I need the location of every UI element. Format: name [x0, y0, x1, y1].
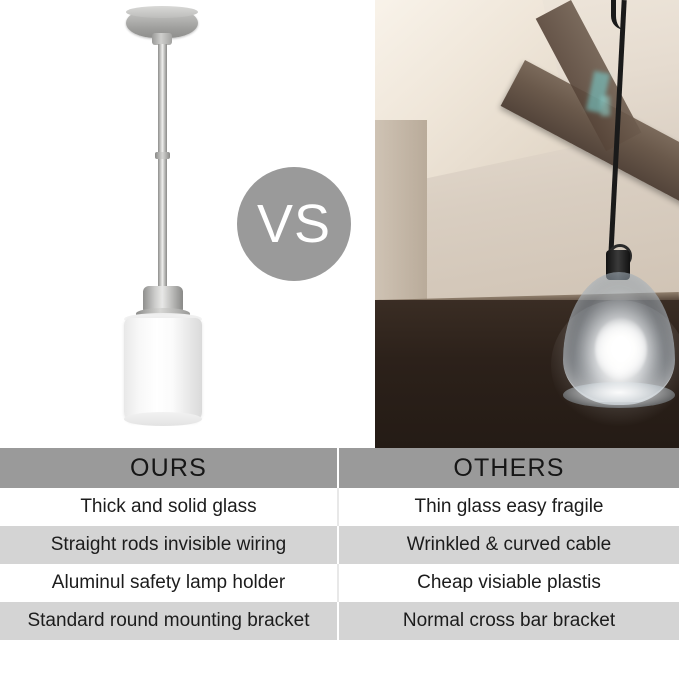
canopy-highlight — [126, 6, 198, 18]
table-row: Thick and solid glass Thin glass easy fr… — [0, 488, 679, 526]
side-wall — [375, 120, 427, 320]
glass-dome-rim — [563, 382, 675, 408]
white-glass-shade — [124, 318, 202, 422]
ours-feature: Standard round mounting bracket — [0, 602, 339, 640]
table-row: Straight rods invisible wiring Wrinkled … — [0, 526, 679, 564]
table-row: Aluminul safety lamp holder Cheap visiab… — [0, 564, 679, 602]
vs-badge: VS — [237, 167, 351, 281]
others-feature: Normal cross bar bracket — [339, 602, 679, 640]
header-ours: OURS — [0, 448, 339, 488]
ours-feature: Aluminul safety lamp holder — [0, 564, 339, 602]
others-feature: Wrinkled & curved cable — [339, 526, 679, 564]
comparison-table: OURS OTHERS Thick and solid glass Thin g… — [0, 448, 679, 679]
header-others: OTHERS — [339, 448, 679, 488]
rod-joint — [155, 152, 170, 159]
bulb-core — [611, 336, 631, 362]
glass-shade-bottom — [124, 412, 202, 426]
vs-badge-label: VS — [257, 193, 331, 255]
image-comparison-area: VS — [0, 0, 679, 448]
ours-feature: Thick and solid glass — [0, 488, 339, 526]
teal-reflection-small — [601, 96, 610, 116]
straight-downrod — [158, 44, 167, 290]
others-feature: Cheap visiable plastis — [339, 564, 679, 602]
table-row: Standard round mounting bracket Normal c… — [0, 602, 679, 640]
ours-feature: Straight rods invisible wiring — [0, 526, 339, 564]
comparison-infographic: VS OURS OTHERS — [0, 0, 679, 679]
others-feature: Thin glass easy fragile — [339, 488, 679, 526]
others-lifestyle-photo — [375, 0, 679, 448]
table-header-row: OURS OTHERS — [0, 448, 679, 488]
